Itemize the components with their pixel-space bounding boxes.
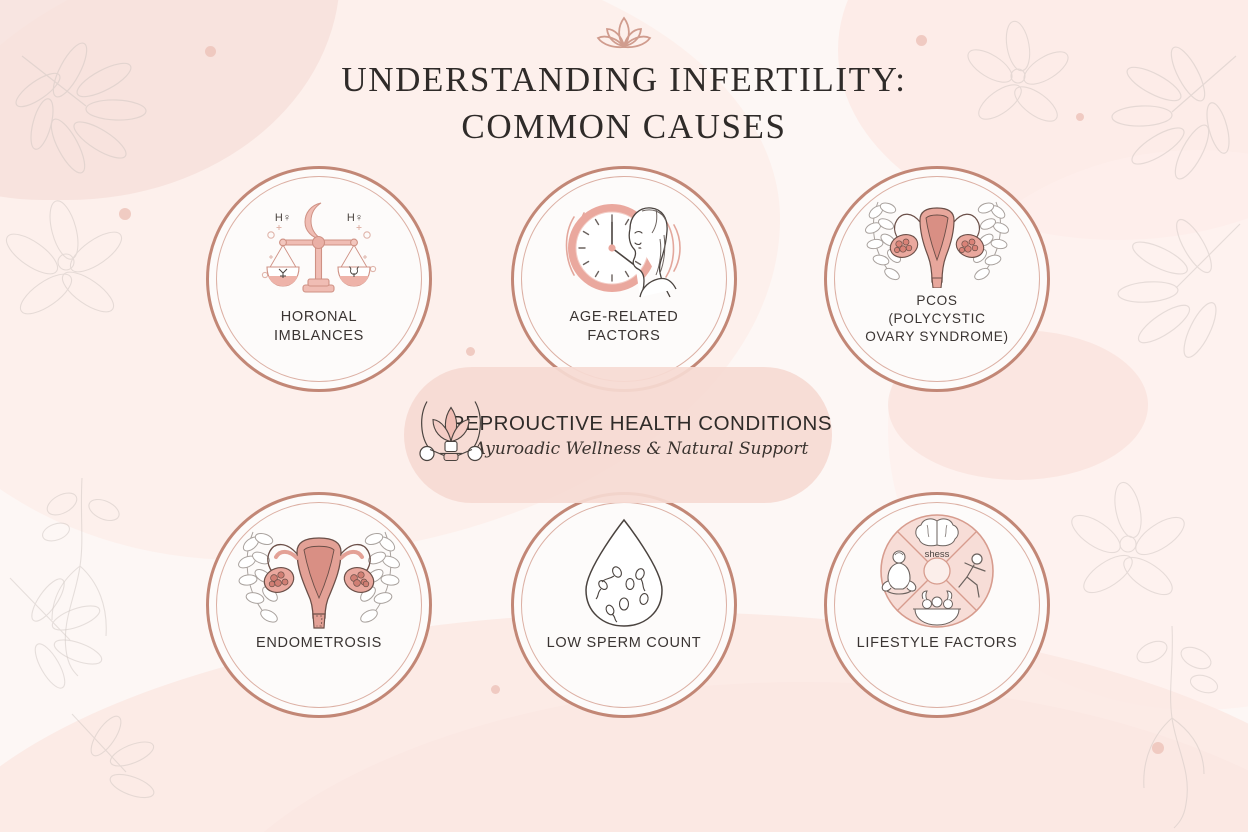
card-lifestyle-factors[interactable]: shess xyxy=(824,492,1050,718)
uterus-polycystic-ovaries-laurel-icon xyxy=(862,190,1012,288)
page-title: UNDERSTANDING INFERTILITY: COMMON CAUSES xyxy=(0,56,1248,151)
botanical-leaf-left-mid xyxy=(0,560,120,710)
card-label: ENDOMETROSIS xyxy=(242,634,396,653)
balance-scale-moon-icon: H♀ H♀ xyxy=(255,194,383,304)
lotus-icon xyxy=(590,12,658,59)
decor-dot xyxy=(916,35,927,46)
card-pcos[interactable]: PCOS (POLYCYSTIC OVARY SYNDROME) xyxy=(824,166,1050,392)
card-label: AGE-RELATED FACTORS xyxy=(556,308,693,346)
card-label: PCOS (POLYCYSTIC OVARY SYNDROME) xyxy=(851,292,1022,346)
clock-woman-profile-icon xyxy=(556,194,692,304)
botanical-leaf-right-mid xyxy=(1110,200,1248,370)
water-drop-sperm-icon xyxy=(572,514,676,630)
card-endometriosis[interactable]: ENDOMETROSIS xyxy=(206,492,432,718)
banner-subtitle: Ayuroadic Wellness & Natural Support xyxy=(450,439,832,459)
botanical-root-right-bottom xyxy=(1108,620,1248,830)
banner-title: REPROUCTIVE HEALTH CONDITIONS xyxy=(450,412,832,436)
svg-text:H♀: H♀ xyxy=(275,212,291,224)
botanical-flower-right xyxy=(1060,480,1200,620)
page-title-line-2: COMMON CAUSES xyxy=(0,103,1248,150)
botanical-root-left-bottom xyxy=(22,470,152,680)
uterus-lotus-emblem-icon xyxy=(414,390,488,481)
uterus-laurel-icon xyxy=(235,518,403,630)
card-hormonal-imbalances[interactable]: H♀ H♀ HORONAL IMBLANCES xyxy=(206,166,432,392)
center-banner: REPROUCTIVE HEALTH CONDITIONS Ayuroadic … xyxy=(404,367,832,503)
infographic-poster: UNDERSTANDING INFERTILITY: COMMON CAUSES xyxy=(0,0,1248,832)
botanical-flower-left xyxy=(0,190,140,340)
decor-dot xyxy=(491,685,500,694)
card-age-related-factors[interactable]: AGE-RELATED FACTORS xyxy=(511,166,737,392)
card-label: HORONAL IMBLANCES xyxy=(260,308,378,346)
wheel-stress-label: shess xyxy=(925,549,950,560)
card-label: LOW SPERM COUNT xyxy=(533,634,716,653)
decor-dot xyxy=(119,208,131,220)
decor-dot xyxy=(1152,742,1164,754)
card-label: LIFESTYLE FACTORS xyxy=(843,634,1032,653)
botanical-leaf-bottom-left xyxy=(60,700,180,820)
svg-text:H♀: H♀ xyxy=(347,212,363,224)
decor-dot xyxy=(466,347,475,356)
lifestyle-quadrant-wheel-icon: shess xyxy=(873,514,1001,630)
page-title-line-1: UNDERSTANDING INFERTILITY: xyxy=(0,56,1248,103)
card-low-sperm-count[interactable]: LOW SPERM COUNT xyxy=(511,492,737,718)
